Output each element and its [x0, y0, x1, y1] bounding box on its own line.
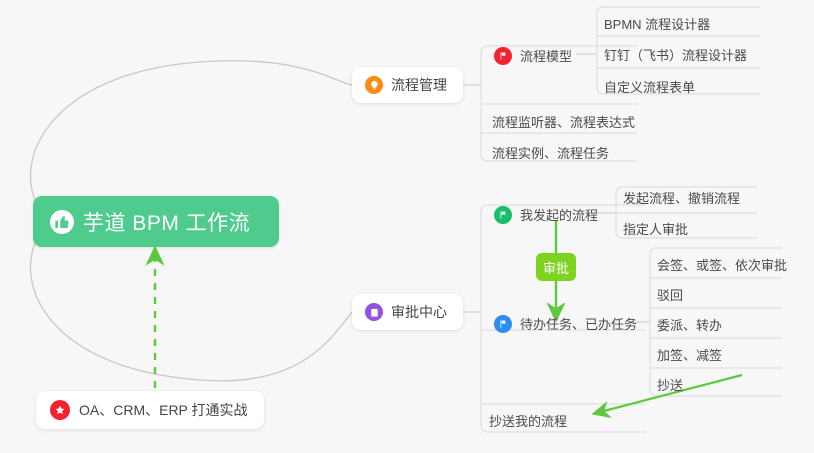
leaf-bpmn-designer[interactable]: BPMN 流程设计器 — [604, 14, 710, 33]
leaf-label: 驳回 — [657, 285, 683, 304]
leaf-reject[interactable]: 驳回 — [657, 285, 683, 304]
branch-approval-center[interactable]: 审批中心 — [352, 294, 463, 330]
branch-process-management[interactable]: 流程管理 — [352, 67, 463, 103]
leaf-label: 会签、或签、依次审批 — [657, 255, 787, 274]
leaf-label: 指定人审批 — [623, 219, 688, 238]
leaf-start-cancel-process[interactable]: 发起流程、撤销流程 — [623, 188, 740, 207]
note-card-integration[interactable]: OA、CRM、ERP 打通实战 — [36, 391, 264, 429]
branch-label-approval-center: 审批中心 — [391, 302, 447, 322]
connector-root-to-process-management — [30, 61, 352, 200]
root-label: 芋道 BPM 工作流 — [83, 207, 250, 237]
node-label-process-model: 流程模型 — [520, 46, 572, 65]
leaf-delegate-transfer[interactable]: 委派、转办 — [657, 315, 722, 334]
lightbulb-icon — [365, 76, 383, 94]
node-label: 流程实例、流程任务 — [492, 143, 609, 162]
flag-icon — [494, 315, 512, 333]
node-label-todo-done-task: 待办任务、已办任务 — [520, 314, 637, 333]
branch-label-process-management: 流程管理 — [391, 75, 447, 95]
flag-icon — [494, 206, 512, 224]
leaf-add-remove-sign[interactable]: 加签、减签 — [657, 345, 722, 364]
leaf-label: 抄送 — [657, 375, 683, 394]
leaf-label: 钉钉（飞书）流程设计器 — [604, 45, 747, 64]
approval-badge-label: 审批 — [543, 258, 569, 277]
leaf-cc[interactable]: 抄送 — [657, 375, 683, 394]
node-todo-done-task[interactable]: 待办任务、已办任务 — [494, 314, 637, 333]
approval-badge: 审批 — [536, 253, 576, 281]
connector-root-to-approval-center — [30, 243, 352, 381]
clipboard-icon — [365, 303, 383, 321]
flag-icon — [494, 47, 512, 65]
node-process-listener[interactable]: 流程监听器、流程表达式 — [492, 112, 635, 131]
star-icon — [50, 400, 70, 420]
node-my-initiated[interactable]: 我发起的流程 — [494, 205, 598, 224]
node-process-instance[interactable]: 流程实例、流程任务 — [492, 143, 609, 162]
leaf-assigned-approval[interactable]: 指定人审批 — [623, 219, 688, 238]
leaf-label: 自定义流程表单 — [604, 77, 695, 96]
node-label-my-initiated: 我发起的流程 — [520, 205, 598, 224]
thumbs-up-icon — [50, 210, 74, 234]
mindmap-canvas: 芋道 BPM 工作流 流程管理 流程模型 BPMN 流程设计器 钉钉（飞书）流程… — [0, 0, 814, 453]
leaf-dingtalk-designer[interactable]: 钉钉（飞书）流程设计器 — [604, 45, 747, 64]
node-cc-to-me[interactable]: 抄送我的流程 — [489, 411, 567, 430]
root-node[interactable]: 芋道 BPM 工作流 — [33, 196, 279, 247]
node-process-model[interactable]: 流程模型 — [494, 46, 572, 65]
leaf-countersign[interactable]: 会签、或签、依次审批 — [657, 255, 787, 274]
leaf-label: 发起流程、撤销流程 — [623, 188, 740, 207]
note-card-label: OA、CRM、ERP 打通实战 — [79, 400, 248, 420]
leaf-label: 加签、减签 — [657, 345, 722, 364]
node-label: 流程监听器、流程表达式 — [492, 112, 635, 131]
leaf-custom-form[interactable]: 自定义流程表单 — [604, 77, 695, 96]
leaf-label: BPMN 流程设计器 — [604, 14, 710, 33]
leaf-label: 委派、转办 — [657, 315, 722, 334]
node-label: 抄送我的流程 — [489, 411, 567, 430]
